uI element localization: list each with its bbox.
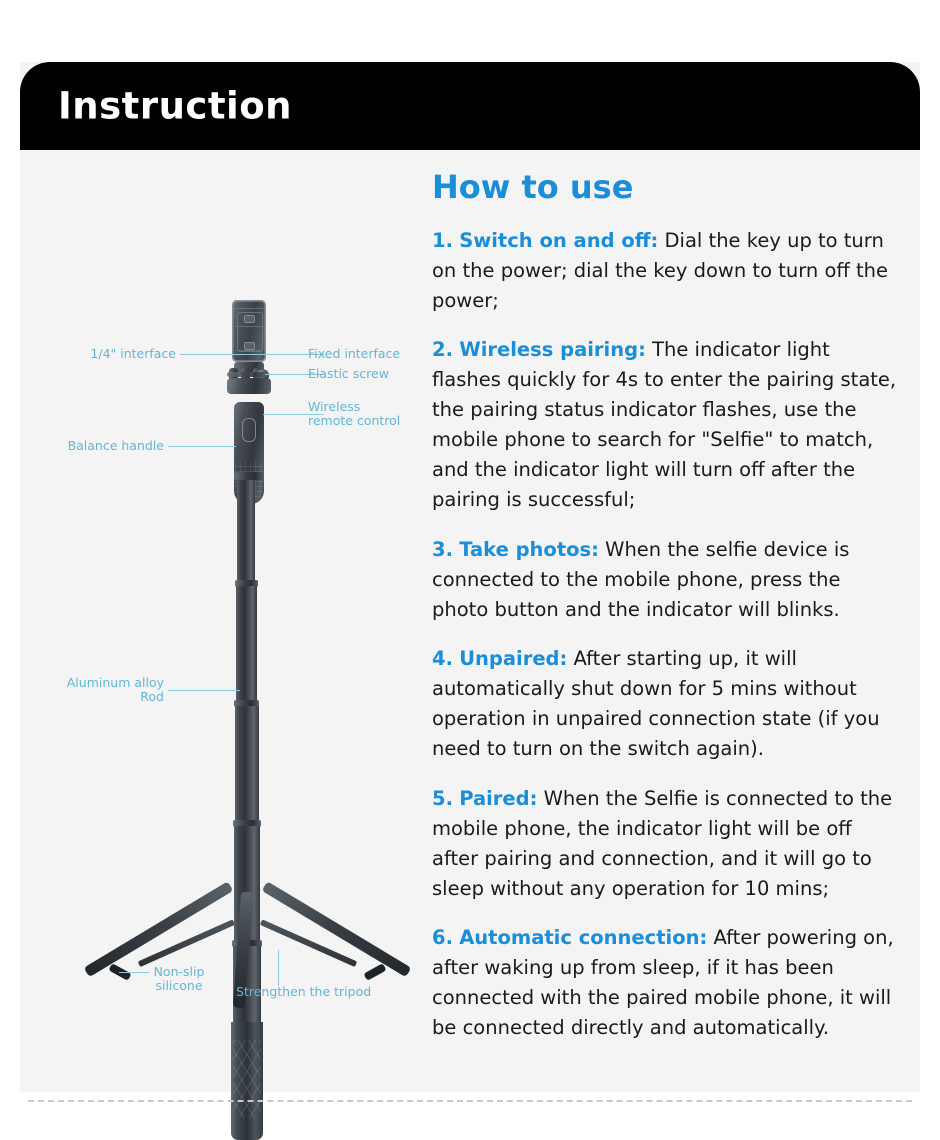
step-label: Switch on and off:	[459, 229, 658, 252]
step-label: Wireless pairing:	[459, 338, 646, 361]
step-label: Take photos:	[459, 538, 599, 561]
label-text: Fixed interface	[308, 346, 400, 361]
leader-balance-handle	[168, 446, 236, 447]
label-text: 1/4" interface	[90, 346, 176, 361]
step-number: 6.	[432, 926, 453, 949]
leader-strengthen-tripod	[278, 950, 279, 986]
step-label: Paired:	[459, 787, 537, 810]
label-balance-handle: Balance handle	[20, 439, 164, 453]
label-strengthen-the-tripod: Strengthen the tripod	[236, 985, 426, 999]
selfie-stick-illustration	[20, 150, 420, 1092]
label-text: Elastic screw	[308, 366, 389, 381]
step-item: 2. Wireless pairing: The indicator light…	[432, 335, 900, 515]
clamp-pad	[244, 342, 255, 350]
how-to-use-section: How to use 1. Switch on and off: Dial th…	[432, 168, 900, 1063]
rod-segment	[235, 706, 259, 824]
bottom-divider	[28, 1100, 912, 1102]
joint-plate	[227, 372, 267, 377]
step-number: 2.	[432, 338, 453, 361]
label-non-slip-silicone: Non-slip silicone	[131, 965, 227, 993]
label-wireless-remote-control: Wireless remote control	[308, 400, 428, 428]
step-label: Automatic connection:	[459, 926, 707, 949]
tripod-grip-texture	[233, 1040, 261, 1118]
leader-aluminum-rod	[168, 690, 240, 691]
label-text-line1: Aluminum alloy	[20, 676, 164, 690]
label-text-line2: remote control	[308, 414, 428, 428]
non-slip-foot-right	[363, 963, 386, 981]
label-quarter-inch-interface: 1/4" interface	[20, 347, 176, 361]
step-number: 3.	[432, 538, 453, 561]
label-text-line1: Wireless	[308, 400, 428, 414]
step-body: The indicator light flashes quickly for …	[432, 338, 896, 511]
label-aluminum-alloy-rod: Aluminum alloy Rod	[20, 676, 164, 704]
label-text: Balance handle	[68, 438, 164, 453]
leader-quarter-inch	[180, 354, 266, 355]
wireless-remote-button	[242, 418, 256, 442]
label-elastic-screw: Elastic screw	[308, 367, 428, 381]
collar	[227, 378, 271, 394]
rod-segment	[237, 480, 255, 584]
step-number: 4.	[432, 647, 453, 670]
rod-segment	[236, 586, 257, 704]
product-diagram: 1/4" interface Fixed interface Elastic s…	[20, 150, 420, 1092]
step-number: 1.	[432, 229, 453, 252]
step-number: 5.	[432, 787, 453, 810]
clamp-seam	[235, 308, 263, 309]
label-fixed-interface: Fixed interface	[308, 347, 428, 361]
rod-joint	[234, 472, 264, 480]
instruction-page: Instruction	[0, 0, 940, 1114]
label-text-line2: silicone	[131, 979, 227, 993]
clamp-pad	[244, 315, 255, 323]
how-to-use-title: How to use	[432, 168, 900, 206]
step-item: 6. Automatic connection: After powering …	[432, 923, 900, 1043]
instruction-banner: Instruction	[20, 62, 920, 150]
label-text-line1: Non-slip	[131, 965, 227, 979]
label-text-line2: Rod	[20, 690, 164, 704]
banner-title: Instruction	[58, 85, 292, 128]
label-text: Strengthen the tripod	[236, 984, 371, 999]
step-item: 4. Unpaired: After starting up, it will …	[432, 644, 900, 764]
step-item: 1. Switch on and off: Dial the key up to…	[432, 226, 900, 316]
step-item: 3. Take photos: When the selfie device i…	[432, 535, 900, 625]
step-label: Unpaired:	[459, 647, 567, 670]
step-item: 5. Paired: When the Selfie is connected …	[432, 784, 900, 904]
